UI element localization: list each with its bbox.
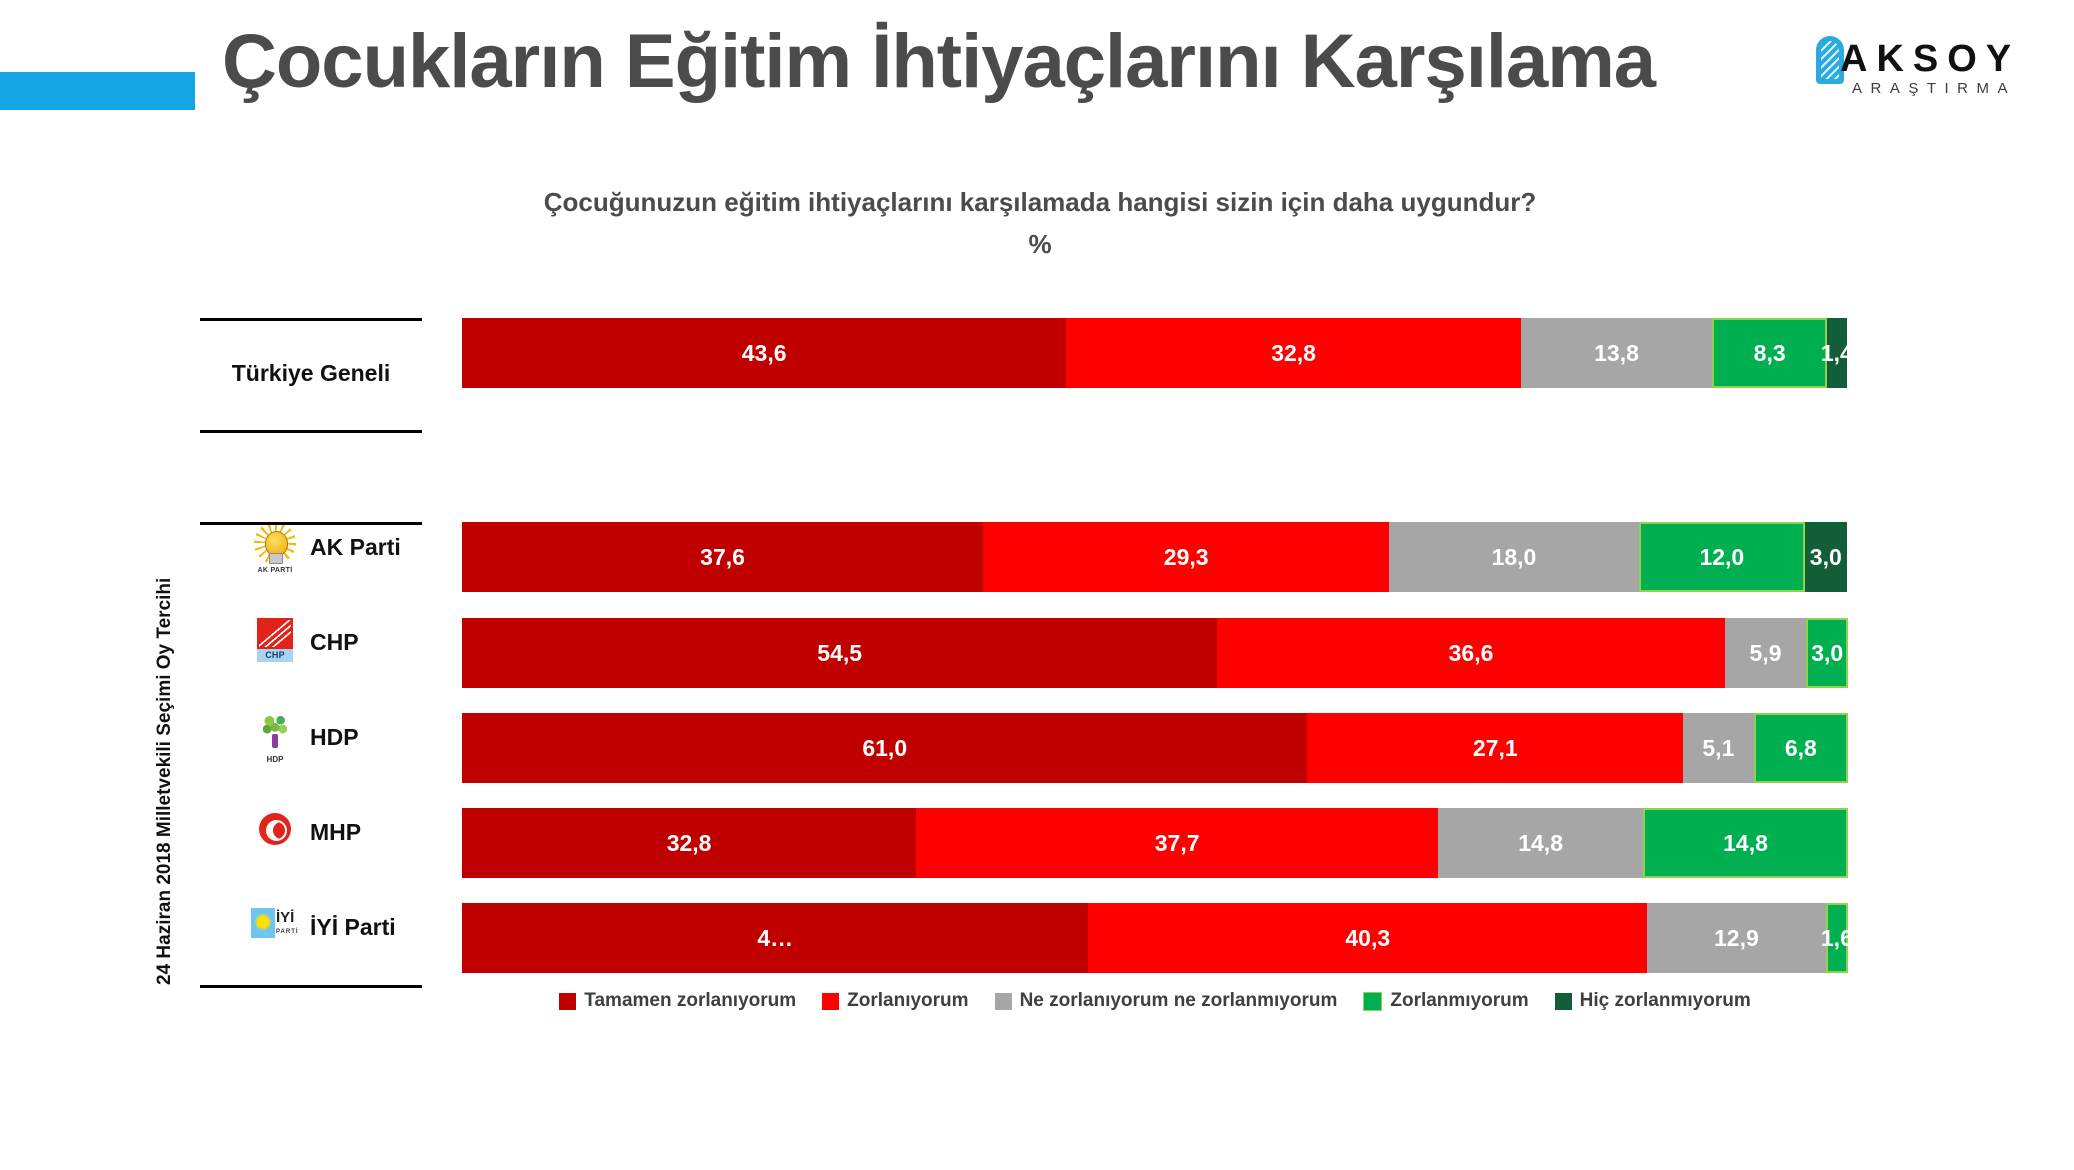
bar-value-label: 13,8 xyxy=(1594,340,1639,367)
category-row-iyi: İYİPARTİ İYİ Parti xyxy=(248,895,428,959)
legend-swatch-icon xyxy=(995,993,1012,1010)
bar-segment: 1,4 xyxy=(1827,318,1846,388)
bar-segment: 14,8 xyxy=(1438,808,1643,878)
bar-value-label: 12,0 xyxy=(1699,544,1744,571)
stacked-bar: 4… 40,3 12,9 1,6 xyxy=(462,903,1848,973)
bar-value-label: 5,9 xyxy=(1750,640,1782,667)
y-axis-title: 24 Haziran 2018 Milletvekili Seçimi Oy T… xyxy=(150,505,180,985)
bar-value-label: 29,3 xyxy=(1164,544,1209,571)
bar-segment: 32,8 xyxy=(462,808,916,878)
legend-label: Tamamen zorlanıyorum xyxy=(584,990,796,1012)
category-row-hdp: HDP HDP xyxy=(248,705,428,769)
bar-value-label: 36,6 xyxy=(1449,640,1494,667)
table-row: 43,6 32,8 13,8 8,3 1,4 xyxy=(462,318,1848,388)
bar-value-label: 12,9 xyxy=(1714,925,1759,952)
iyiparti-logo-icon: İYİPARTİ xyxy=(248,900,302,954)
bar-value-label: 18,0 xyxy=(1492,544,1537,571)
bar-segment: 61,0 xyxy=(462,713,1307,783)
legend-item: Hiç zorlanmıyorum xyxy=(1555,990,1751,1012)
bar-segment: 37,6 xyxy=(462,522,983,592)
bar-value-label: 37,6 xyxy=(700,544,745,571)
bar-value-label: 27,1 xyxy=(1473,735,1518,762)
bar-segment: 6,8 xyxy=(1754,713,1848,783)
stacked-bar: 37,6 29,3 18,0 12,0 3,0 xyxy=(462,522,1848,592)
bar-segment: 54,5 xyxy=(462,618,1217,688)
bar-segment: 36,6 xyxy=(1217,618,1724,688)
legend-swatch-icon xyxy=(1363,992,1382,1011)
legend-swatch-icon xyxy=(1555,993,1572,1010)
table-row: 32,8 37,7 14,8 14,8 xyxy=(462,808,1848,878)
category-row-mhp: MHP xyxy=(248,800,428,864)
bar-value-label: 32,8 xyxy=(667,830,712,857)
bar-segment: 29,3 xyxy=(983,522,1389,592)
category-label-hdp: HDP xyxy=(310,724,359,751)
bar-value-label: 40,3 xyxy=(1345,925,1390,952)
bar-segment: 4… xyxy=(462,903,1088,973)
legend-swatch-icon xyxy=(822,993,839,1010)
bar-segment: 37,7 xyxy=(916,808,1438,878)
bar-segment: 3,0 xyxy=(1806,618,1848,688)
category-label-mhp: MHP xyxy=(310,819,361,846)
bar-segment: 12,0 xyxy=(1639,522,1805,592)
legend-item: Tamamen zorlanıyorum xyxy=(559,990,796,1012)
bar-value-label: 4… xyxy=(757,925,793,952)
row-separator xyxy=(200,522,422,525)
bar-value-label: 54,5 xyxy=(817,640,862,667)
legend-item: Ne zorlanıyorum ne zorlanmıyorum xyxy=(995,990,1338,1012)
table-row: 61,0 27,1 5,1 6,8 xyxy=(462,713,1848,783)
category-row-chp: CHP CHP xyxy=(248,610,428,674)
category-label-akp: AK Parti xyxy=(310,534,401,561)
stacked-bar: 54,5 36,6 5,9 3,0 xyxy=(462,618,1848,688)
hdp-logo-icon: HDP xyxy=(248,710,302,764)
legend-item: Zorlanıyorum xyxy=(822,990,968,1012)
category-label-iyi: İYİ Parti xyxy=(310,914,396,941)
bar-segment: 5,9 xyxy=(1725,618,1807,688)
bar-value-label: 14,8 xyxy=(1723,830,1768,857)
legend-label: Zorlanmıyorum xyxy=(1390,990,1528,1012)
bar-segment: 5,1 xyxy=(1683,713,1754,783)
mhp-logo-icon xyxy=(248,805,302,859)
table-row: 4… 40,3 12,9 1,6 xyxy=(462,903,1848,973)
chart-legend: Tamamen zorlanıyorum Zorlanıyorum Ne zor… xyxy=(462,990,1848,1012)
stacked-bar: 32,8 37,7 14,8 14,8 xyxy=(462,808,1848,878)
bar-segment: 43,6 xyxy=(462,318,1066,388)
row-separator xyxy=(200,430,422,433)
bar-value-label: 5,1 xyxy=(1702,735,1734,762)
bar-segment: 12,9 xyxy=(1647,903,1826,973)
bar-segment: 8,3 xyxy=(1712,318,1827,388)
y-axis-title-text: 24 Haziran 2018 Milletvekili Seçimi Oy T… xyxy=(150,505,180,985)
category-label-turkiye-geneli: Türkiye Geneli xyxy=(200,360,422,387)
bar-value-label: 14,8 xyxy=(1518,830,1563,857)
stacked-bar: 43,6 32,8 13,8 8,3 1,4 xyxy=(462,318,1848,388)
bar-segment: 1,6 xyxy=(1826,903,1848,973)
bar-value-label: 1,6 xyxy=(1821,925,1853,952)
bar-value-label: 1,4 xyxy=(1821,340,1853,367)
bar-segment: 13,8 xyxy=(1521,318,1712,388)
bar-value-label: 3,0 xyxy=(1811,640,1843,667)
table-row: 37,6 29,3 18,0 12,0 3,0 xyxy=(462,522,1848,592)
stacked-bar-chart: 24 Haziran 2018 Milletvekili Seçimi Oy T… xyxy=(0,0,2074,1170)
bar-value-label: 8,3 xyxy=(1754,340,1786,367)
bar-segment: 40,3 xyxy=(1088,903,1647,973)
bar-value-label: 32,8 xyxy=(1271,340,1316,367)
bar-segment: 3,0 xyxy=(1805,522,1847,592)
bar-segment: 18,0 xyxy=(1389,522,1638,592)
bar-value-label: 43,6 xyxy=(742,340,787,367)
legend-swatch-icon xyxy=(559,993,576,1010)
bar-segment: 27,1 xyxy=(1307,713,1683,783)
stacked-bar: 61,0 27,1 5,1 6,8 xyxy=(462,713,1848,783)
bar-value-label: 6,8 xyxy=(1785,735,1817,762)
bar-segment: 14,8 xyxy=(1643,808,1848,878)
row-separator xyxy=(200,318,422,321)
row-separator xyxy=(200,985,422,988)
bar-value-label: 3,0 xyxy=(1810,544,1842,571)
chp-logo-icon: CHP xyxy=(248,615,302,669)
category-label-chp: CHP xyxy=(310,629,359,656)
legend-item: Zorlanmıyorum xyxy=(1363,990,1528,1012)
legend-label: Hiç zorlanmıyorum xyxy=(1580,990,1751,1012)
bar-value-label: 37,7 xyxy=(1155,830,1200,857)
legend-label: Ne zorlanıyorum ne zorlanmıyorum xyxy=(1020,990,1338,1012)
bar-segment: 32,8 xyxy=(1066,318,1521,388)
bar-value-label: 61,0 xyxy=(862,735,907,762)
akparti-logo-icon: AK PARTİ xyxy=(248,520,302,574)
legend-label: Zorlanıyorum xyxy=(847,990,968,1012)
table-row: 54,5 36,6 5,9 3,0 xyxy=(462,618,1848,688)
